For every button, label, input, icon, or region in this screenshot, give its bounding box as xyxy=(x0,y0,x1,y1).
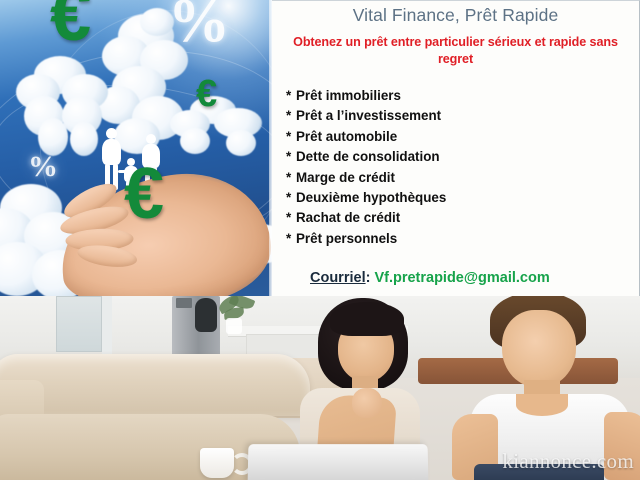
couple-laptop-photo: kiannonce.com xyxy=(0,296,640,480)
euro-symbol-top: € xyxy=(50,0,91,52)
bullet-marker: * xyxy=(286,168,296,188)
euro-symbol-middle: € xyxy=(196,75,217,113)
email-separator: : xyxy=(366,270,371,286)
man-collar xyxy=(516,394,568,416)
laptop xyxy=(248,444,429,480)
list-item: *Prêt a l’investissement xyxy=(286,106,639,126)
top-section: % % € € € Vital Finance, Prêt Rapide Obt… xyxy=(0,0,640,296)
woman-fringe xyxy=(330,302,404,336)
man-face xyxy=(502,310,576,388)
bullet-marker: * xyxy=(286,229,296,249)
email-address[interactable]: Vf.pretrapide@gmail.com xyxy=(374,270,549,286)
email-label: Courriel xyxy=(310,270,366,286)
sub-headline: Obtenez un prêt entre particulier sérieu… xyxy=(286,34,625,68)
sofa-backrest xyxy=(0,354,310,416)
list-item: *Prêt personnels xyxy=(286,229,639,249)
sky-finance-photo: % % € € € xyxy=(0,0,272,296)
list-item-label: Marge de crédit xyxy=(296,170,395,185)
list-item: *Dette de consolidation xyxy=(286,147,639,167)
list-item: *Marge de crédit xyxy=(286,168,639,188)
offer-text-panel: Vital Finance, Prêt Rapide Obtenez un pr… xyxy=(272,0,640,296)
car-cloud-icon xyxy=(170,96,266,158)
offer-list: *Prêt immobiliers *Prêt a l’investisseme… xyxy=(272,86,639,249)
door-frame xyxy=(102,296,112,354)
coffee-mug xyxy=(200,448,234,478)
bullet-marker: * xyxy=(286,86,296,106)
bullet-marker: * xyxy=(286,188,296,208)
list-item-label: Deuxième hypothèques xyxy=(296,190,446,205)
bullet-marker: * xyxy=(286,106,296,126)
list-item-label: Prêt a l’investissement xyxy=(296,108,441,123)
fridge-panel xyxy=(176,298,192,308)
watermark: kiannonce.com xyxy=(502,449,634,474)
bullet-marker: * xyxy=(286,127,296,147)
list-item-label: Dette de consolidation xyxy=(296,149,440,164)
list-item-label: Rachat de crédit xyxy=(296,210,400,225)
bullet-marker: * xyxy=(286,208,296,228)
list-item-label: Prêt immobiliers xyxy=(296,88,401,103)
percent-symbol-large: % xyxy=(168,0,230,52)
percent-symbol-small: % xyxy=(28,152,58,182)
vase xyxy=(226,318,242,334)
list-item: *Rachat de crédit xyxy=(286,208,639,228)
euro-symbol-in-hand: € xyxy=(124,158,164,230)
list-item: *Prêt immobiliers xyxy=(286,86,639,106)
list-item-label: Prêt personnels xyxy=(296,231,397,246)
list-item: *Prêt automobile xyxy=(286,127,639,147)
woman-hand xyxy=(352,388,382,418)
page-title: Vital Finance, Prêt Rapide xyxy=(272,1,639,26)
list-item: *Deuxième hypothèques xyxy=(286,188,639,208)
list-item-label: Prêt automobile xyxy=(296,129,397,144)
bullet-marker: * xyxy=(286,147,296,167)
contact-email-line: Courriel:Vf.pretrapide@gmail.com xyxy=(310,270,550,286)
advertisement-banner: % % € € € Vital Finance, Prêt Rapide Obt… xyxy=(0,0,640,480)
door xyxy=(56,296,102,352)
